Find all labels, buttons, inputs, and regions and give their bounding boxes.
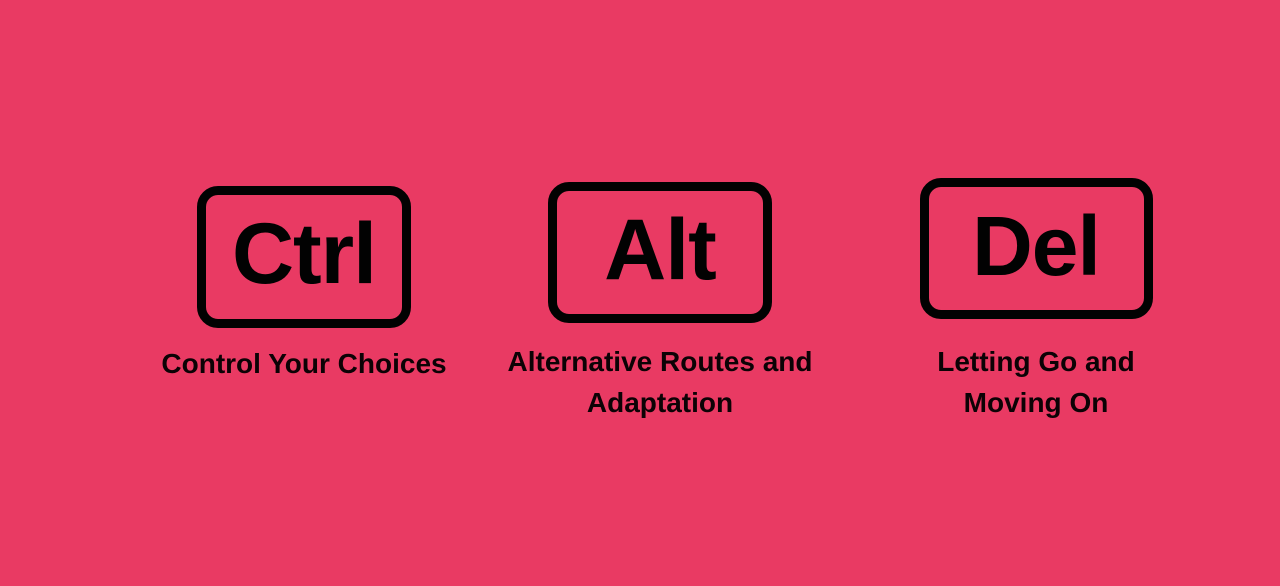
caption-del: Letting Go and Moving On bbox=[880, 341, 1192, 423]
caption-alt: Alternative Routes and Adaptation bbox=[470, 341, 850, 423]
graphic-canvas: Ctrl Control Your Choices Alt Alternativ… bbox=[0, 0, 1280, 586]
keycap-label-alt: Alt bbox=[604, 207, 716, 293]
keycap-alt[interactable]: Alt bbox=[548, 182, 772, 323]
key-group-del: Del Letting Go and Moving On bbox=[880, 178, 1192, 423]
keycap-del[interactable]: Del bbox=[920, 178, 1153, 319]
keycap-label-ctrl: Ctrl bbox=[232, 211, 376, 297]
keycap-ctrl[interactable]: Ctrl bbox=[197, 186, 411, 328]
caption-ctrl: Control Your Choices bbox=[112, 343, 496, 384]
key-group-ctrl: Ctrl Control Your Choices bbox=[112, 186, 496, 384]
keycap-label-del: Del bbox=[972, 204, 1100, 288]
key-group-alt: Alt Alternative Routes and Adaptation bbox=[470, 182, 850, 423]
